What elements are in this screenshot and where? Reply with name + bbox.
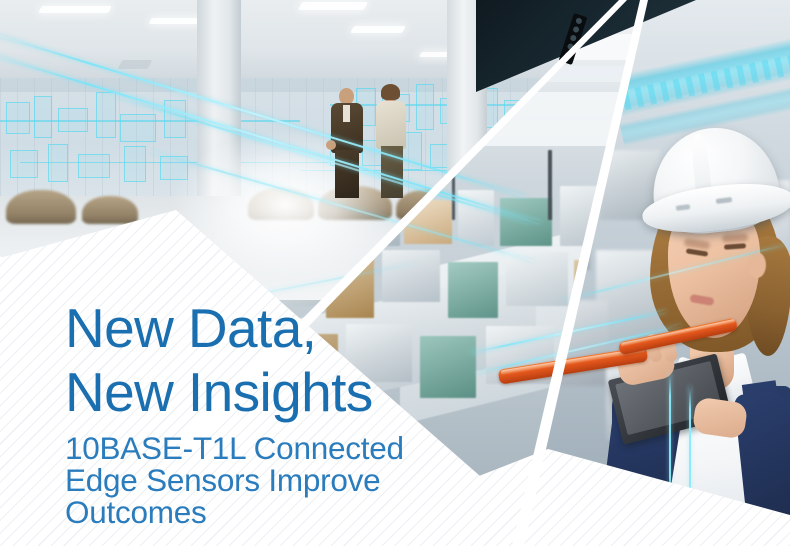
cyan-beam-line (560, 242, 790, 302)
cyan-beam-line (0, 32, 526, 197)
cover-banner: New Data, New Insights 10BASE-T1L Connec… (0, 0, 790, 546)
cover-copy: New Data, New Insights 10BASE-T1L Connec… (65, 296, 485, 528)
page-subtitle: 10BASE-T1L Connected Edge Sensors Improv… (65, 432, 485, 528)
cyan-beam-line (476, 325, 681, 374)
page-title: New Data, New Insights (65, 296, 485, 424)
cyan-beam-line (0, 52, 541, 223)
